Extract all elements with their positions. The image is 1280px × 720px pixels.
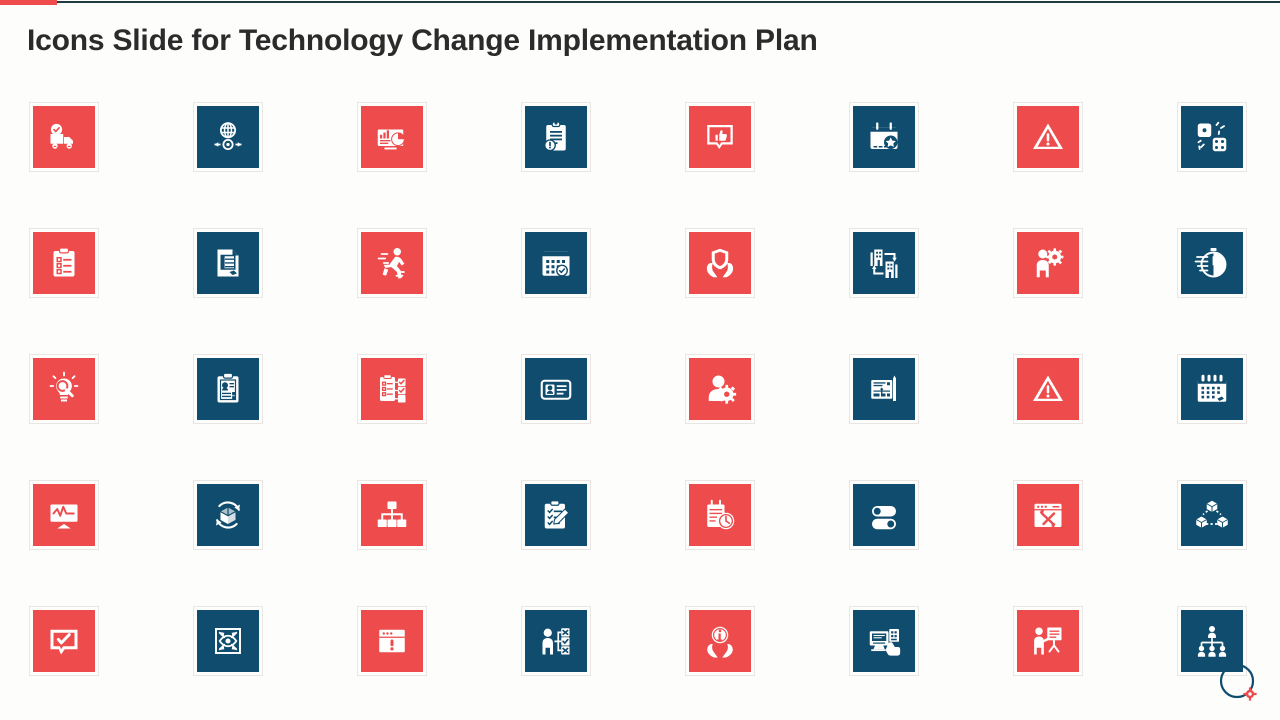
top-accent-bar (0, 0, 1280, 5)
icon-cell-r3-c1 (30, 355, 98, 423)
icon-cell-r4-c6 (850, 481, 918, 549)
stopwatch-speed-icon[interactable] (1181, 232, 1243, 294)
icon-cell-r1-c8 (1178, 103, 1246, 171)
icon-cell-r2-c1 (30, 229, 98, 297)
icon-grid (30, 103, 1252, 675)
warning-triangle-icon[interactable] (1017, 358, 1079, 420)
icon-cell-r4-c8 (1178, 481, 1246, 549)
browser-tools-icon[interactable] (1017, 484, 1079, 546)
icon-cell-r3-c6 (850, 355, 918, 423)
icon-cell-r5-c2 (194, 607, 262, 675)
icon-cell-r1-c1 (30, 103, 98, 171)
icon-cell-r2-c3 (358, 229, 426, 297)
icon-cell-r3-c2 (194, 355, 262, 423)
slide-canvas: Icons Slide for Technology Change Implem… (0, 0, 1280, 720)
icon-cell-r1-c2 (194, 103, 262, 171)
checklist-checkboxes-icon[interactable] (361, 358, 423, 420)
icon-cell-r5-c5 (686, 607, 754, 675)
icon-cell-r5-c4 (522, 607, 590, 675)
document-list-icon[interactable] (197, 232, 259, 294)
clipboard-pen-check-icon[interactable] (525, 484, 587, 546)
topbar-red-segment (0, 0, 57, 5)
clipboard-alert-icon[interactable] (525, 106, 587, 168)
checklist-clipboard-icon[interactable] (33, 232, 95, 294)
icon-cell-r4-c5 (686, 481, 754, 549)
presenter-board-icon[interactable] (1017, 610, 1079, 672)
monitor-pulse-icon[interactable] (33, 484, 95, 546)
icon-cell-r4-c3 (358, 481, 426, 549)
running-person-icon[interactable] (361, 232, 423, 294)
icon-cell-r1-c6 (850, 103, 918, 171)
icon-cell-r2-c7 (1014, 229, 1082, 297)
invoice-document-icon[interactable] (853, 358, 915, 420)
person-gear-icon[interactable] (1017, 232, 1079, 294)
icon-cell-r2-c6 (850, 229, 918, 297)
icon-cell-r3-c8 (1178, 355, 1246, 423)
calendar-star-icon[interactable] (853, 106, 915, 168)
calendar-check-icon[interactable] (525, 232, 587, 294)
icon-cell-r2-c2 (194, 229, 262, 297)
warning-triangle-icon[interactable] (1017, 106, 1079, 168)
icon-cell-r1-c7 (1014, 103, 1082, 171)
icon-cell-r4-c7 (1014, 481, 1082, 549)
icon-cell-r1-c5 (686, 103, 754, 171)
lightbulb-magnifier-icon[interactable] (33, 358, 95, 420)
calendar-schedule-icon[interactable] (1181, 358, 1243, 420)
toggle-switches-icon[interactable] (853, 484, 915, 546)
icon-cell-r3-c5 (686, 355, 754, 423)
icon-cell-r4-c1 (30, 481, 98, 549)
analytics-dashboard-icon[interactable] (361, 106, 423, 168)
company-logo-watermark (1216, 660, 1262, 706)
cube-rotate-icon[interactable] (197, 484, 259, 546)
user-settings-icon[interactable] (689, 358, 751, 420)
information-hands-icon[interactable] (689, 610, 751, 672)
icon-cell-r4-c4 (522, 481, 590, 549)
shield-in-hands-icon[interactable] (689, 232, 751, 294)
icon-cell-r2-c4 (522, 229, 590, 297)
icon-cell-r5-c7 (1014, 607, 1082, 675)
dice-risk-icon[interactable] (1181, 106, 1243, 168)
clipboard-resume-icon[interactable] (197, 358, 259, 420)
person-decision-icon[interactable] (525, 610, 587, 672)
connected-cubes-icon[interactable] (1181, 484, 1243, 546)
id-card-icon[interactable] (525, 358, 587, 420)
vision-expand-icon[interactable] (197, 610, 259, 672)
topbar-dark-segment (57, 1, 1280, 3)
global-target-arrows-icon[interactable] (197, 106, 259, 168)
icon-cell-r4-c2 (194, 481, 262, 549)
icon-cell-r3-c7 (1014, 355, 1082, 423)
org-hierarchy-icon[interactable] (361, 484, 423, 546)
icon-cell-r1-c3 (358, 103, 426, 171)
icon-cell-r5-c1 (30, 607, 98, 675)
icon-cell-r5-c6 (850, 607, 918, 675)
building-relocation-icon[interactable] (853, 232, 915, 294)
icon-cell-r2-c8 (1178, 229, 1246, 297)
computer-training-icon[interactable] (853, 610, 915, 672)
icon-cell-r1-c4 (522, 103, 590, 171)
delivery-truck-check-icon[interactable] (33, 106, 95, 168)
calendar-clock-icon[interactable] (689, 484, 751, 546)
icon-cell-r3-c4 (522, 355, 590, 423)
page-title: Icons Slide for Technology Change Implem… (27, 24, 818, 58)
approval-bubble-icon[interactable] (33, 610, 95, 672)
icon-cell-r2-c5 (686, 229, 754, 297)
thumbs-up-feedback-icon[interactable] (689, 106, 751, 168)
browser-alert-icon[interactable] (361, 610, 423, 672)
icon-cell-r3-c3 (358, 355, 426, 423)
icon-cell-r5-c3 (358, 607, 426, 675)
